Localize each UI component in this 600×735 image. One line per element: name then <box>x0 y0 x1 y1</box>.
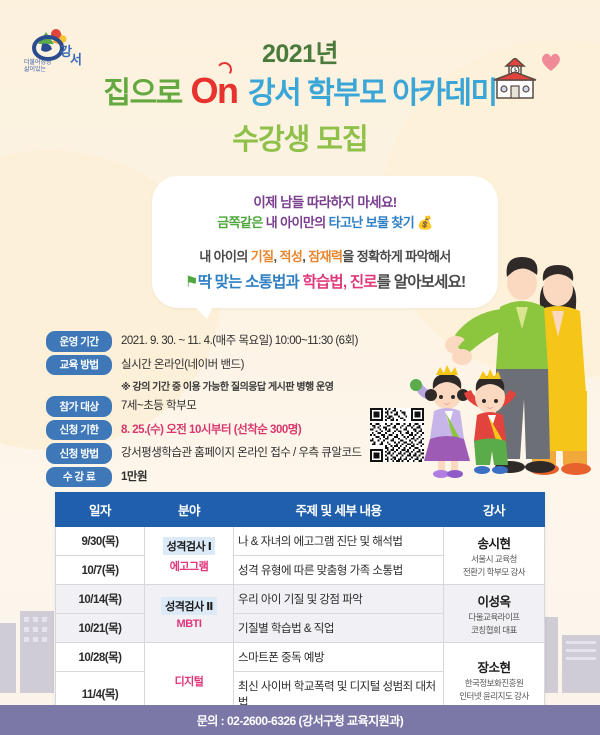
field-tag: 성격검사 Ⅰ <box>163 537 216 555</box>
tutor-name: 송시현 <box>448 533 540 552</box>
info-value-fee: 1만원 <box>121 467 147 486</box>
cell-topic: 나 & 자녀의 에고그램 진단 및 해석법 <box>234 527 444 556</box>
bubble-line-4: ⚑딱 맞는 소통법과 학습법, 진로를 알아보세요! <box>160 270 490 292</box>
info-row-fee: 수 강 료 1만원 <box>46 467 446 488</box>
column-header-field: 분야 <box>145 493 234 527</box>
tutor-org-line1: 서울시 교육청 <box>448 554 540 565</box>
info-value-method: 실시간 온라인(네이버 밴드) <box>121 355 244 374</box>
info-label-apply: 신청 방법 <box>46 443 112 464</box>
bubble-line-1: 이제 남들 따라하지 마세요! <box>160 193 490 213</box>
title-on-word: On <box>189 70 249 111</box>
bubble-line2-c: 만의 <box>303 215 326 230</box>
cell-tutor: 송시현 서울시 교육청 전환기 학부모 강사 <box>444 527 545 585</box>
tutor-name: 이성옥 <box>448 591 540 610</box>
message-bubble: 이제 남들 따라하지 마세요! 금쪽같은 내 아이만의 타고난 보물 찾기 💰 … <box>152 176 498 308</box>
tutor-org-line2: 전환기 학부모 강사 <box>448 567 540 578</box>
cell-date: 10/7(목) <box>56 556 145 585</box>
cell-topic: 기질별 학습법 & 직업 <box>234 614 444 643</box>
bubble-line3-b: 기질 <box>251 249 274 264</box>
cell-tutor: 이성옥 다울교육라이프 코칭협회 대표 <box>444 585 545 643</box>
info-row-period: 운영 기간 2021. 9. 30. ~ 11. 4.(매주 목요일) 10:0… <box>46 331 446 352</box>
schedule-table: 일자 분야 주제 및 세부 내용 강사 9/30(목) 성격검사 Ⅰ 에고그램 … <box>55 492 545 717</box>
bubble-line3-g: 을 정확하게 파악해서 <box>342 249 450 264</box>
info-value-period: 2021. 9. 30. ~ 11. 4.(매주 목요일) 10:00~11:3… <box>121 331 358 350</box>
cell-date: 10/28(목) <box>56 643 145 672</box>
footer-text: 문의 : 02-2600-6326 (강서구청 교육지원과) <box>197 712 404 729</box>
info-value-audience: 7세~초등 학부모 <box>121 396 196 415</box>
tutor-org-line2: 코칭협회 대표 <box>448 625 540 636</box>
tutor-org-line1: 한국정보화진흥원 <box>448 678 540 689</box>
bubble-line4-e: 를 알아보세요! <box>377 274 466 291</box>
poster-root: 강 서 더불어성장 삶이있는 2021년 집으로 On 강서 학부모 아카데미 … <box>0 0 600 735</box>
bubble-line-3: 내 아이의 기질, 적성, 잠재력을 정확하게 파악해서 <box>160 246 490 265</box>
cell-topic: 성격 유형에 따른 맞춤형 가족 소통법 <box>234 556 444 585</box>
column-header-tutor: 강사 <box>444 493 545 527</box>
title-part1: 집으로 <box>103 77 181 110</box>
bubble-line3-d: 적성 <box>280 249 303 264</box>
info-value-apply: 강서평생학습관 홈페이지 온라인 접수 / 우측 큐알코드 <box>121 443 362 462</box>
money-bag-icon: 💰 <box>417 215 433 230</box>
info-row-method: 교육 방법 실시간 온라인(네이버 밴드) <box>46 355 446 376</box>
flag-icon: ⚑ <box>185 274 198 291</box>
cell-date: 10/14(목) <box>56 585 145 614</box>
cell-topic: 우리 아이 기질 및 강점 파악 <box>234 585 444 614</box>
cell-date: 9/30(목) <box>56 527 145 556</box>
table-header-row: 일자 분야 주제 및 세부 내용 강사 <box>56 493 545 527</box>
field-subtitle: 디지털 <box>149 673 229 689</box>
bubble-line4-d: 진로 <box>350 274 377 291</box>
bubble-line-2: 금쪽같은 내 아이만의 타고난 보물 찾기 💰 <box>160 213 490 234</box>
bubble-line3-f: 잠재력 <box>308 249 342 264</box>
tutor-org-line1: 다울교육라이프 <box>448 612 540 623</box>
bubble-line2-a: 금쪽같은 <box>217 215 262 230</box>
column-header-topic: 주제 및 세부 내용 <box>234 493 444 527</box>
table-row: 10/14(목) 성격검사 Ⅱ MBTI 우리 아이 기질 및 강점 파악 이성… <box>56 585 545 614</box>
table-row: 10/28(목) 디지털 스마트폰 중독 예방 장소현 한국정보화진흥원 인터넷… <box>56 643 545 672</box>
info-label-deadline: 신청 기한 <box>46 420 112 441</box>
field-tag: 성격검사 Ⅱ <box>161 597 217 615</box>
bubble-line3-a: 내 아이의 <box>199 249 247 264</box>
table-row: 9/30(목) 성격검사 Ⅰ 에고그램 나 & 자녀의 에고그램 진단 및 해석… <box>56 527 545 556</box>
field-subtitle: 에고그램 <box>149 558 229 574</box>
bubble-line4-b: 학습법 <box>302 274 342 291</box>
info-label-period: 운영 기간 <box>46 331 112 352</box>
bubble-line2-d: 타고난 보물 찾기 <box>329 215 415 230</box>
heart-icon <box>540 52 562 72</box>
cell-topic: 스마트폰 중독 예방 <box>234 643 444 672</box>
tutor-org-line2: 인터넷 윤리지도 강사 <box>448 691 540 702</box>
title-subtitle: 수강생 모집 <box>0 116 600 158</box>
info-label-fee: 수 강 료 <box>46 467 112 488</box>
cell-field: 성격검사 Ⅱ MBTI <box>145 585 234 643</box>
footer-contact-bar: 문의 : 02-2600-6326 (강서구청 교육지원과) <box>0 705 600 735</box>
info-label-audience: 참가 대상 <box>46 396 112 417</box>
info-label-method: 교육 방법 <box>46 355 112 376</box>
bubble-line4-c: , <box>343 274 350 291</box>
qr-code[interactable] <box>370 408 424 462</box>
tutor-name: 장소현 <box>448 657 540 676</box>
column-header-date: 일자 <box>56 493 145 527</box>
bubble-line4-a: 딱 맞는 소통법과 <box>198 274 299 291</box>
title-part2: 강서 학부모 아카데미 <box>248 77 497 110</box>
info-note: ※ 강의 기간 중 이용 가능한 질의응답 게시판 병행 운영 <box>121 378 446 393</box>
info-value-deadline: 8. 25.(수) 오전 10시부터 (선착순 300명) <box>121 420 301 439</box>
field-subtitle: MBTI <box>149 618 229 630</box>
bubble-line2-b: 내 아이 <box>266 215 303 230</box>
school-house-icon <box>492 58 538 102</box>
cell-date: 10/21(목) <box>56 614 145 643</box>
cell-field: 성격검사 Ⅰ 에고그램 <box>145 527 234 585</box>
